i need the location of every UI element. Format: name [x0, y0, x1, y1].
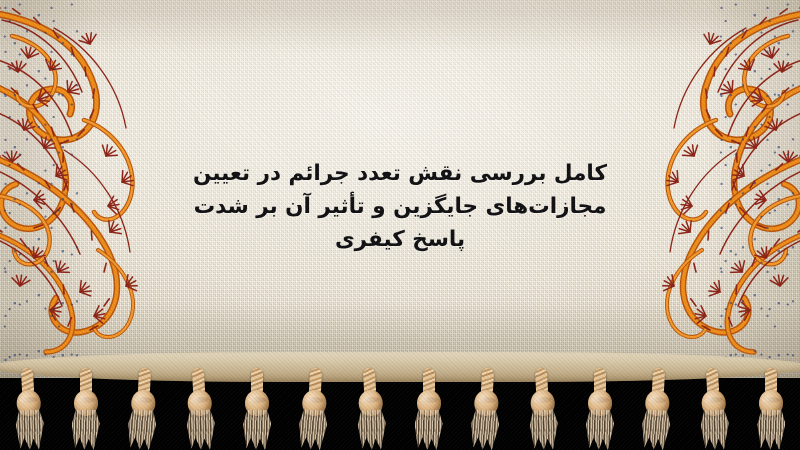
tassel-skirt: [357, 409, 387, 450]
tassel-skirt: [72, 410, 100, 450]
title-line-3: پاسخ کیفری: [0, 223, 800, 256]
tassel-skirt: [298, 409, 328, 450]
tassel-skirt: [415, 410, 443, 450]
tassel: [754, 368, 788, 450]
tassel: [412, 368, 446, 450]
tassel-skirt: [529, 409, 559, 450]
tassel: [295, 367, 333, 450]
tassel: [69, 368, 103, 450]
tassel-skirt: [15, 409, 45, 450]
tassel: [124, 367, 162, 450]
title-line-2: مجازات‌های جایگزین و تأثیر آن بر شدت: [0, 190, 800, 223]
tassel: [638, 367, 676, 450]
tassel-skirt: [700, 409, 730, 450]
tassel-skirt: [586, 410, 614, 450]
tassel: [583, 368, 617, 450]
tassel-skirt: [757, 410, 785, 450]
tassel: [9, 367, 47, 450]
tassel: [524, 367, 562, 450]
title-line-1: کامل بررسی نقش تعدد جرائم در تعیین: [0, 157, 800, 190]
tassel-skirt: [641, 409, 671, 450]
tassel: [695, 367, 733, 450]
tassel-skirt: [470, 409, 500, 450]
tassel-skirt: [127, 409, 157, 450]
tassel: [352, 367, 390, 450]
tassel-skirt: [186, 409, 216, 450]
tassel-skirt: [243, 410, 271, 450]
tassel: [467, 367, 505, 450]
tassel-fringe: [0, 368, 800, 450]
title-card: کامل بررسی نقش تعدد جرائم در تعیین مجازا…: [0, 0, 800, 450]
page-title: کامل بررسی نقش تعدد جرائم در تعیین مجازا…: [0, 157, 800, 256]
tassel: [240, 368, 274, 450]
tassel: [181, 367, 219, 450]
